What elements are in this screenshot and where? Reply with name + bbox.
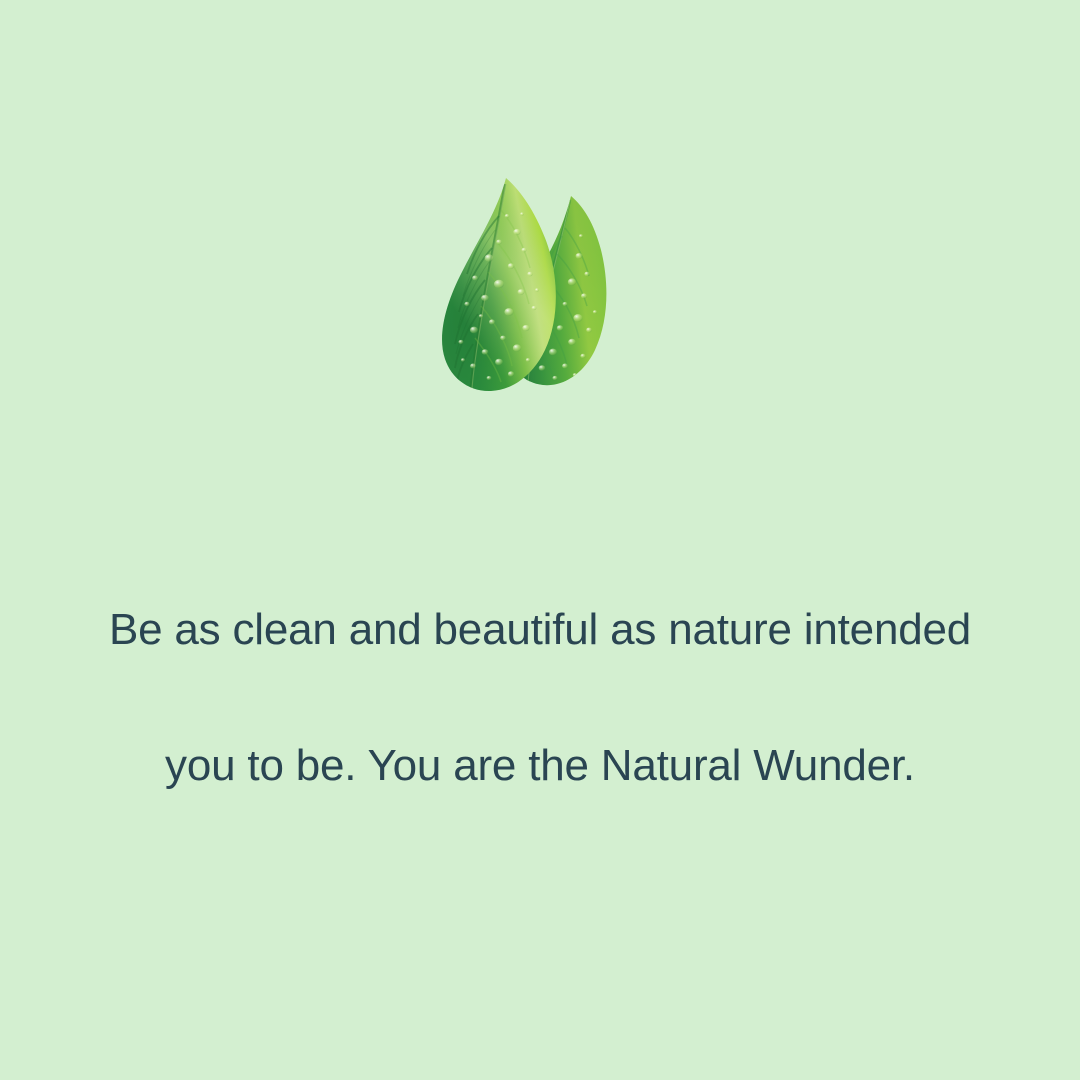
- tagline-line-2: you to be. You are the Natural Wunder.: [90, 732, 990, 800]
- tagline-line-1: Be as clean and beautiful as nature inte…: [90, 596, 990, 664]
- front-leaf: [442, 178, 556, 391]
- poster-canvas: Be as clean and beautiful as nature inte…: [0, 0, 1080, 1080]
- leaf-icon: [429, 170, 659, 415]
- logo-container: [0, 170, 1080, 420]
- tagline: Be as clean and beautiful as nature inte…: [90, 528, 990, 868]
